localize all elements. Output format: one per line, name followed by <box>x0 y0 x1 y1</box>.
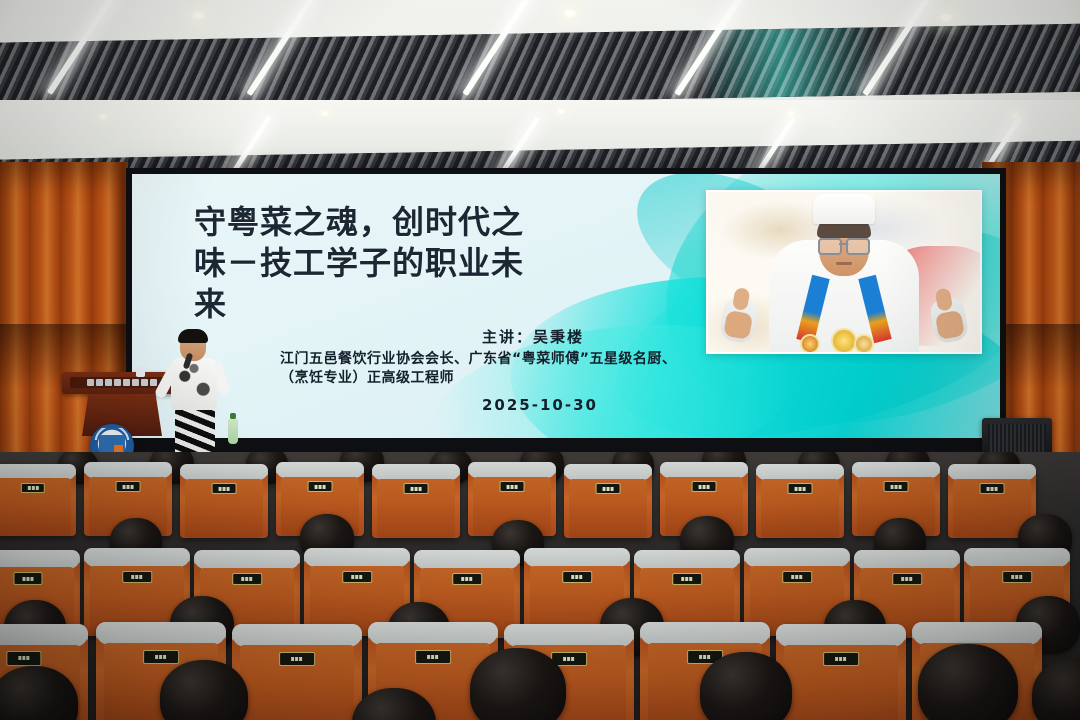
seat-headrest <box>634 550 740 569</box>
chef-medal <box>854 334 874 354</box>
seat-headrest <box>96 622 226 645</box>
chef-medal <box>831 328 857 354</box>
audience-head <box>918 644 1018 720</box>
seat-headrest <box>776 624 906 647</box>
seat-number-plate <box>404 483 429 494</box>
seat-number-plate <box>1002 571 1032 584</box>
seat-headrest <box>744 548 850 567</box>
downlight-icon <box>556 108 566 115</box>
seat-headrest <box>660 462 748 478</box>
seat-number-plate <box>596 483 621 494</box>
seat-number-plate <box>884 481 909 492</box>
seat-headrest <box>504 624 634 647</box>
audience-seat <box>180 464 268 538</box>
seat-headrest <box>194 550 300 569</box>
seat-headrest <box>948 464 1036 480</box>
chef-medal <box>800 334 820 354</box>
seat-headrest <box>414 550 520 569</box>
slide-title-line-2: 味－技工学子的职业未 <box>194 243 694 284</box>
audience-seat <box>372 464 460 538</box>
seat-number-plate <box>452 573 482 586</box>
slide-credentials-line-2: （烹饪专业）正高级工程师 <box>280 369 980 388</box>
seat-number-plate <box>342 571 372 584</box>
seat-number-plate <box>692 481 717 492</box>
slide-title-line-3: 来 <box>194 284 694 325</box>
seat-headrest <box>640 622 770 645</box>
presenter-hair <box>178 329 208 343</box>
seat-number-plate <box>279 652 315 667</box>
seat-headrest <box>524 548 630 567</box>
seat-number-plate <box>892 573 922 586</box>
presenter-shirt <box>171 358 217 410</box>
seat-headrest <box>0 550 80 569</box>
downlight-icon <box>190 10 206 21</box>
seat-headrest <box>564 464 652 480</box>
hand-shape <box>935 310 965 340</box>
seat-number-plate <box>212 483 237 494</box>
downlight-icon <box>98 113 108 120</box>
seat-number-plate <box>980 483 1005 494</box>
downlight-icon <box>562 8 578 19</box>
presenter <box>163 331 225 461</box>
seat-headrest <box>468 462 556 478</box>
seat-number-plate <box>232 573 262 586</box>
seat-headrest <box>232 624 362 647</box>
seat-headrest <box>276 462 364 478</box>
slide-title-line-1: 守粤菜之魂，创时代之 <box>194 202 694 243</box>
seat-headrest <box>854 550 960 569</box>
auditorium-photo: 守粤菜之魂，创时代之 味－技工学子的职业未 来 主讲：吴秉楼 江门五邑餐饮行业协… <box>0 0 1080 720</box>
audience-seating-area <box>0 452 1080 720</box>
downlight-icon <box>320 110 330 117</box>
seat-number-plate <box>116 481 141 492</box>
glasses-icon <box>818 238 870 251</box>
seat-number-plate <box>122 571 152 584</box>
audience-head <box>470 648 566 720</box>
seat-headrest <box>756 464 844 480</box>
downlight-icon <box>1010 112 1020 119</box>
seat-headrest <box>0 624 88 647</box>
downlight-icon <box>786 110 796 117</box>
downlight-icon <box>938 12 954 23</box>
audience-seat <box>756 464 844 538</box>
audience-seat <box>776 624 906 720</box>
seat-headrest <box>912 622 1042 645</box>
seat-headrest <box>852 462 940 478</box>
seat-number-plate <box>562 571 592 584</box>
seat-number-plate <box>788 483 813 494</box>
slide-speaker-name: 主讲：吴秉楼 <box>482 326 584 347</box>
hand-shape <box>723 310 753 340</box>
seat-headrest <box>180 464 268 480</box>
seat-number-plate <box>782 571 812 584</box>
chef-mouth <box>836 262 852 265</box>
seat-number-plate <box>823 652 859 667</box>
water-cup <box>136 366 145 377</box>
chef-hat-icon <box>813 194 875 224</box>
audience-seat <box>232 624 362 720</box>
audience-seat <box>564 464 652 538</box>
seat-number-plate <box>500 481 525 492</box>
seat-headrest <box>372 464 460 480</box>
slide-title: 守粤菜之魂，创时代之 味－技工学子的职业未 来 <box>194 202 694 325</box>
presentation-slide: 守粤菜之魂，创时代之 味－技工学子的职业未 来 主讲：吴秉楼 江门五邑餐饮行业协… <box>132 174 1000 438</box>
chef-portrait-photo <box>706 190 982 354</box>
seat-number-plate <box>21 483 45 494</box>
audience-seat <box>0 464 76 536</box>
seat-number-plate <box>672 573 702 586</box>
thumb-shape <box>732 287 751 311</box>
seat-headrest <box>84 548 190 567</box>
water-bottle <box>228 418 238 444</box>
seat-number-plate <box>13 572 42 584</box>
ceiling-teal-glow <box>700 27 880 98</box>
seat-number-plate <box>308 481 333 492</box>
slide-credentials: 江门五邑餐饮行业协会会长、广东省“粤菜师傅”五星级名厨、 （烹饪专业）正高级工程… <box>280 350 980 388</box>
seat-number-plate <box>6 651 41 665</box>
seat-headrest <box>84 462 172 478</box>
projection-screen: 守粤菜之魂，创时代之 味－技工学子的职业未 来 主讲：吴秉楼 江门五邑餐饮行业协… <box>126 168 1006 456</box>
seat-number-plate <box>415 650 451 665</box>
seat-headrest <box>304 548 410 567</box>
audience-head <box>160 660 248 720</box>
seat-headrest <box>368 622 498 645</box>
seat-headrest <box>964 548 1070 567</box>
slide-date: 2025-10-30 <box>482 396 598 414</box>
seat-number-plate <box>143 650 179 665</box>
audience-head <box>700 652 792 720</box>
